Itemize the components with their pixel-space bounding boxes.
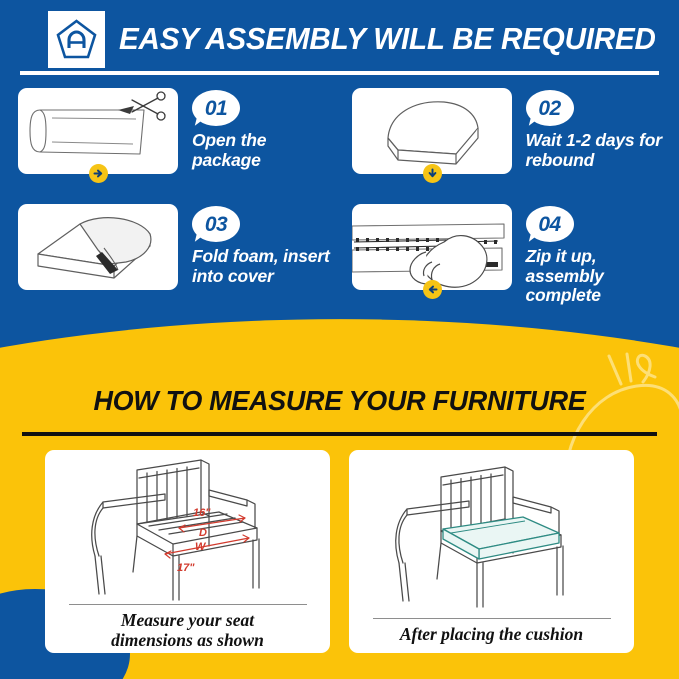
step-03: 03 Fold foam, insert into cover: [0, 204, 340, 306]
cushion-foam-slab: [352, 88, 512, 174]
width-value: 17": [177, 562, 195, 574]
step-04-card: [352, 204, 512, 290]
step-02-card: [352, 88, 512, 174]
step-03-text: 03 Fold foam, insert into cover: [178, 204, 340, 286]
rolled-package-with-scissors: [18, 88, 178, 174]
measure-cards: 16" D W 17" Measure your seat dimensions…: [0, 450, 679, 653]
caption-line-1: Measure your seat: [49, 611, 326, 631]
step-number: 03: [205, 214, 227, 235]
header: EASY ASSEMBLY WILL BE REQUIRED: [0, 0, 679, 80]
measure-section-title: HOW TO MEASURE YOUR FURNITURE: [7, 385, 672, 417]
step-01: 01 Open the package: [0, 88, 340, 174]
step-02-number-badge: 02: [526, 90, 576, 128]
step-01-text: 01 Open the package: [178, 88, 340, 170]
step-row-2: 03 Fold foam, insert into cover: [0, 204, 679, 306]
arrow-left-icon: [423, 280, 442, 299]
caption-line-2: dimensions as shown: [49, 631, 326, 651]
step-04-label: Zip it up, assembly complete: [526, 247, 679, 306]
step-number: 02: [538, 98, 560, 119]
bubble-circle: 04: [526, 206, 574, 242]
step-03-label: Fold foam, insert into cover: [192, 247, 340, 286]
hand-zipping-cushion: [352, 204, 512, 290]
depth-letter: D: [199, 527, 207, 539]
measure-divider: [22, 432, 657, 436]
chair-with-cushion: [349, 450, 634, 618]
step-01-label: Open the package: [192, 131, 340, 170]
step-03-number-badge: 03: [192, 206, 242, 244]
step-04: 04 Zip it up, assembly complete: [340, 204, 679, 306]
assembly-steps: 01 Open the package: [0, 88, 679, 306]
arrow-down-icon: [423, 164, 442, 183]
measure-card-dimensions: 16" D W 17" Measure your seat dimensions…: [45, 450, 330, 653]
step-number: 04: [538, 214, 560, 235]
measure-card-cushion: After placing the cushion: [349, 450, 634, 653]
step-01-card: [18, 88, 178, 174]
step-04-text: 04 Zip it up, assembly complete: [512, 204, 679, 306]
bubble-circle: 01: [192, 90, 240, 126]
foam-folded-into-cover: [18, 204, 178, 290]
depth-value: 16": [193, 507, 211, 519]
arrow-right-icon: [89, 164, 108, 183]
step-02-label: Wait 1-2 days for rebound: [526, 131, 679, 170]
step-row-1: 01 Open the package: [0, 88, 679, 174]
step-02-text: 02 Wait 1-2 days for rebound: [512, 88, 679, 170]
step-01-number-badge: 01: [192, 90, 242, 128]
caption-line-1: After placing the cushion: [353, 625, 630, 645]
width-letter: W: [195, 541, 207, 553]
step-03-card: [18, 204, 178, 290]
page-title: EASY ASSEMBLY WILL BE REQUIRED: [119, 22, 656, 57]
measure-card-dimensions-caption: Measure your seat dimensions as shown: [45, 605, 330, 653]
measure-card-cushion-caption: After placing the cushion: [349, 619, 634, 653]
infographic-page: EASY ASSEMBLY WILL BE REQUIRED: [0, 0, 679, 679]
header-row: EASY ASSEMBLY WILL BE REQUIRED: [48, 11, 672, 68]
house-pentagon-a-icon: [48, 11, 105, 68]
step-02: 02 Wait 1-2 days for rebound: [340, 88, 679, 174]
step-04-number-badge: 04: [526, 206, 576, 244]
bubble-circle: 02: [526, 90, 574, 126]
bubble-circle: 03: [192, 206, 240, 242]
step-number: 01: [205, 98, 227, 119]
chair-with-dimension-labels: 16" D W 17": [45, 450, 330, 604]
header-divider: [20, 71, 659, 75]
